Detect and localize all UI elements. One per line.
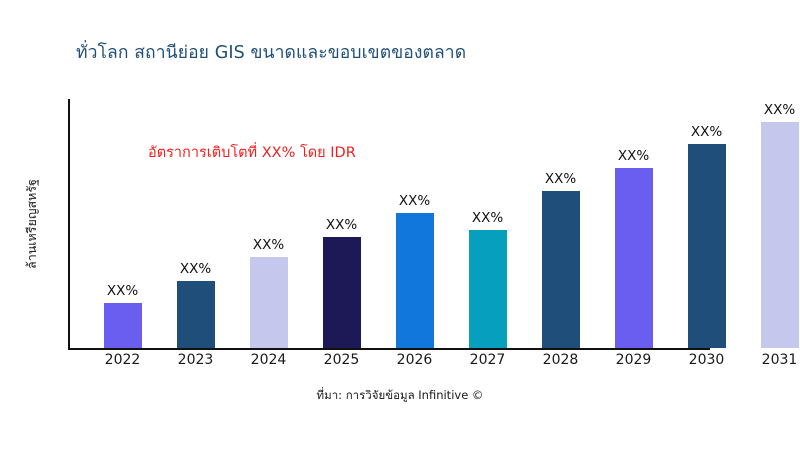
x-tick-2030: 2030 (670, 352, 743, 368)
chart-title: ทั่วโลก สถานีย่อย GIS ขนาดและขอบเขตของตล… (76, 38, 466, 66)
bar-value-label-2030: XX% (691, 124, 722, 140)
bar-2025[interactable] (323, 237, 361, 348)
bar-value-label-2024: XX% (253, 237, 284, 253)
bar-series: XX%XX%XX%XX%XX%XX%XX%XX%XX%XX% (68, 99, 780, 348)
chart-container: ทั่วโลก สถานีย่อย GIS ขนาดและขอบเขตของตล… (0, 0, 800, 450)
bar-2030[interactable] (688, 144, 726, 348)
bar-group-2031[interactable]: XX% (743, 99, 800, 348)
bar-group-2025[interactable]: XX% (305, 99, 378, 348)
bar-2023[interactable] (177, 281, 215, 348)
x-tick-2025: 2025 (305, 352, 378, 368)
x-tick-2023: 2023 (159, 352, 232, 368)
x-tick-2022: 2022 (86, 352, 159, 368)
bar-group-2029[interactable]: XX% (597, 99, 670, 348)
bar-group-2030[interactable]: XX% (670, 99, 743, 348)
bar-value-label-2026: XX% (399, 193, 430, 209)
source-note: ที่มา: การวิจัยข้อมูล Infinitive © (0, 387, 800, 405)
bar-2024[interactable] (250, 257, 288, 348)
bar-value-label-2027: XX% (472, 210, 503, 226)
bar-group-2028[interactable]: XX% (524, 99, 597, 348)
y-axis-label: ล้านเหรียญสหรัฐ (22, 179, 42, 269)
bar-value-label-2029: XX% (618, 148, 649, 164)
x-tick-2031: 2031 (743, 352, 800, 368)
y-axis-label-container: ล้านเหรียญสหรัฐ (0, 99, 64, 349)
bar-group-2023[interactable]: XX% (159, 99, 232, 348)
bar-2027[interactable] (469, 230, 507, 348)
bar-value-label-2028: XX% (545, 171, 576, 187)
bar-value-label-2031: XX% (764, 102, 795, 118)
x-axis-line (68, 348, 710, 350)
bar-2031[interactable] (761, 122, 799, 348)
bar-value-label-2025: XX% (326, 217, 357, 233)
bar-group-2022[interactable]: XX% (86, 99, 159, 348)
bar-2026[interactable] (396, 213, 434, 348)
bar-value-label-2022: XX% (107, 283, 138, 299)
bar-group-2026[interactable]: XX% (378, 99, 451, 348)
bar-group-2027[interactable]: XX% (451, 99, 524, 348)
x-tick-2027: 2027 (451, 352, 524, 368)
bar-2029[interactable] (615, 168, 653, 348)
plot-area: XX%XX%XX%XX%XX%XX%XX%XX%XX%XX% (68, 99, 780, 348)
x-tick-2029: 2029 (597, 352, 670, 368)
x-tick-2028: 2028 (524, 352, 597, 368)
x-tick-2024: 2024 (232, 352, 305, 368)
x-axis-tick-labels: 2022202320242025202620272028202920302031 (68, 352, 780, 378)
growth-rate-annotation: อัตราการเติบโตที่ XX% โดย IDR (148, 141, 356, 164)
x-tick-2026: 2026 (378, 352, 451, 368)
bar-2022[interactable] (104, 303, 142, 348)
bar-group-2024[interactable]: XX% (232, 99, 305, 348)
bar-value-label-2023: XX% (180, 261, 211, 277)
bar-2028[interactable] (542, 191, 580, 348)
